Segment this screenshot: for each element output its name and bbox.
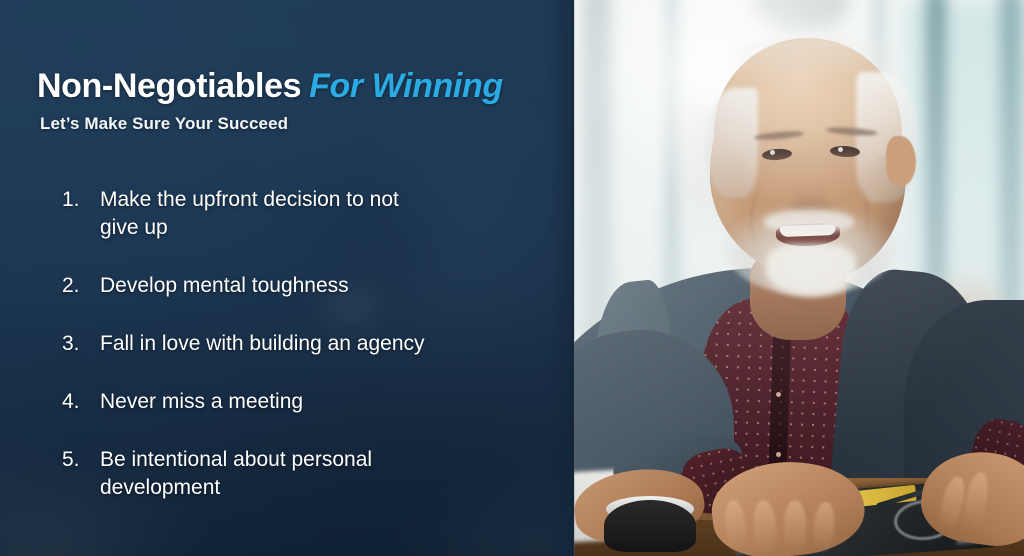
list-item-number: 4. <box>62 388 100 416</box>
list-item-label: Never miss a meeting <box>100 388 303 416</box>
page-title: Non-NegotiablesFor Winning <box>37 66 503 106</box>
non-negotiables-list: 1. Make the upfront decision to not give… <box>62 186 532 532</box>
list-item-number: 1. <box>62 186 100 214</box>
panel-divider <box>571 0 575 556</box>
list-item-label: Be intentional about personal developmen… <box>100 446 430 502</box>
shirt-button <box>776 452 781 457</box>
list-item-label: Develop mental toughness <box>100 272 349 300</box>
list-item-label: Fall in love with building an agency <box>100 330 425 358</box>
page-title-main: Non-Negotiables <box>37 67 301 105</box>
chin-beard <box>766 244 856 296</box>
list-item: 4. Never miss a meeting <box>62 388 532 416</box>
eye-highlight-left <box>770 150 775 155</box>
ear-right <box>886 136 916 186</box>
list-item: 5. Be intentional about personal develop… <box>62 446 532 502</box>
page-subtitle: Let’s Make Sure Your Succeed <box>40 113 288 135</box>
left-text-panel: Non-NegotiablesFor Winning Let’s Make Su… <box>0 0 574 556</box>
white-mustache <box>764 210 854 232</box>
list-item-number: 5. <box>62 446 100 474</box>
businessman-photo <box>574 0 1024 556</box>
page-title-accent: For Winning <box>309 67 503 105</box>
finger <box>784 500 806 556</box>
coffee-cup <box>604 500 696 552</box>
list-item-number: 3. <box>62 330 100 358</box>
left-panel-content: Non-NegotiablesFor Winning Let’s Make Su… <box>0 0 574 556</box>
list-item-number: 2. <box>62 272 100 300</box>
eye-highlight-right <box>838 147 843 152</box>
list-item: 1. Make the upfront decision to not give… <box>62 186 532 242</box>
shirt-button <box>776 392 781 397</box>
list-item-label: Make the upfront decision to not give up <box>100 186 430 242</box>
hair-left <box>706 88 758 198</box>
list-item: 2. Develop mental toughness <box>62 272 532 300</box>
list-item: 3. Fall in love with building an agency <box>62 330 532 358</box>
slide-root: Non-NegotiablesFor Winning Let’s Make Su… <box>0 0 1024 556</box>
